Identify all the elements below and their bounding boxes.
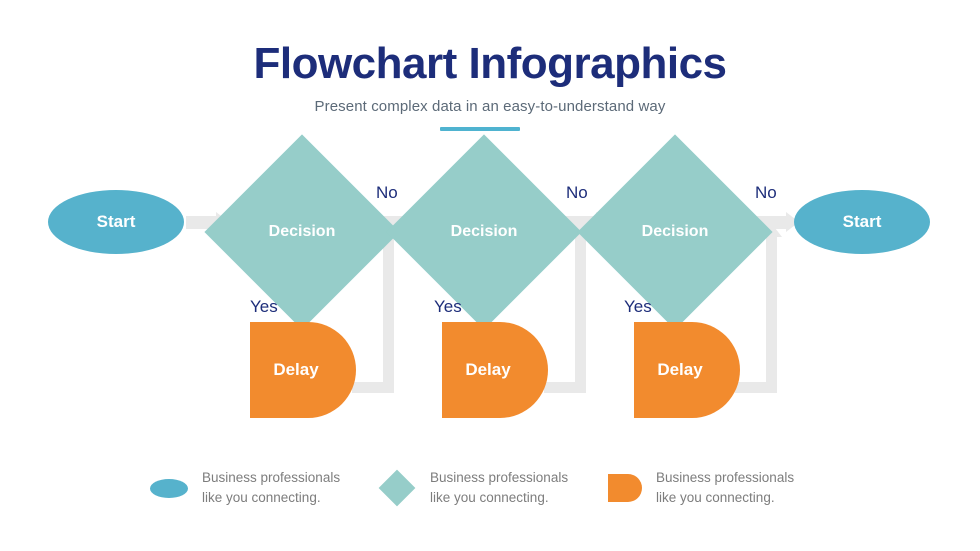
legend-item-1-text: Business professionals like you connecti… [202,468,340,509]
slide-canvas: Flowchart Infographics Present complex d… [0,0,980,551]
node-decision-3-label: Decision [642,223,709,241]
node-delay-3[interactable]: Delay [634,322,740,418]
node-start-left-label: Start [97,212,136,232]
branch-label-yes-2: Yes [434,297,462,317]
accent-underline [440,127,520,131]
node-start-right-label: Start [843,212,882,232]
page-subtitle: Present complex data in an easy-to-under… [0,98,980,115]
legend-item-2[interactable]: Business professionals like you connecti… [378,466,608,510]
branch-label-no-3: No [755,183,777,203]
legend-item-3-text: Business professionals like you connecti… [656,468,794,509]
diamond-marker-icon [379,470,416,507]
node-delay-2[interactable]: Delay [442,322,548,418]
branch-label-no-2: No [566,183,588,203]
branch-label-yes-3: Yes [624,297,652,317]
ellipse-marker-icon [150,479,188,498]
node-decision-1-label: Decision [269,223,336,241]
node-decision-2-label: Decision [451,223,518,241]
connector-delay-3-loop-vertical [766,236,777,393]
node-decision-1[interactable]: Decision [233,163,371,301]
node-delay-1[interactable]: Delay [250,322,356,418]
node-start-left[interactable]: Start [48,190,184,254]
connector-delay-1-loop-vertical [383,236,394,393]
connector-delay-2-loop-vertical [575,236,586,393]
page-title: Flowchart Infographics [0,40,980,88]
branch-label-no-1: No [376,183,398,203]
legend-item-2-text: Business professionals like you connecti… [430,468,568,509]
branch-label-yes-1: Yes [250,297,278,317]
node-delay-3-label: Delay [657,360,702,380]
node-delay-1-label: Delay [273,360,318,380]
node-delay-2-label: Delay [465,360,510,380]
legend-item-1[interactable]: Business professionals like you connecti… [150,466,380,510]
legend-item-3[interactable]: Business professionals like you connecti… [608,466,838,510]
delay-marker-icon [608,474,642,502]
node-decision-3[interactable]: Decision [606,163,744,301]
node-start-right[interactable]: Start [794,190,930,254]
node-decision-2[interactable]: Decision [415,163,553,301]
